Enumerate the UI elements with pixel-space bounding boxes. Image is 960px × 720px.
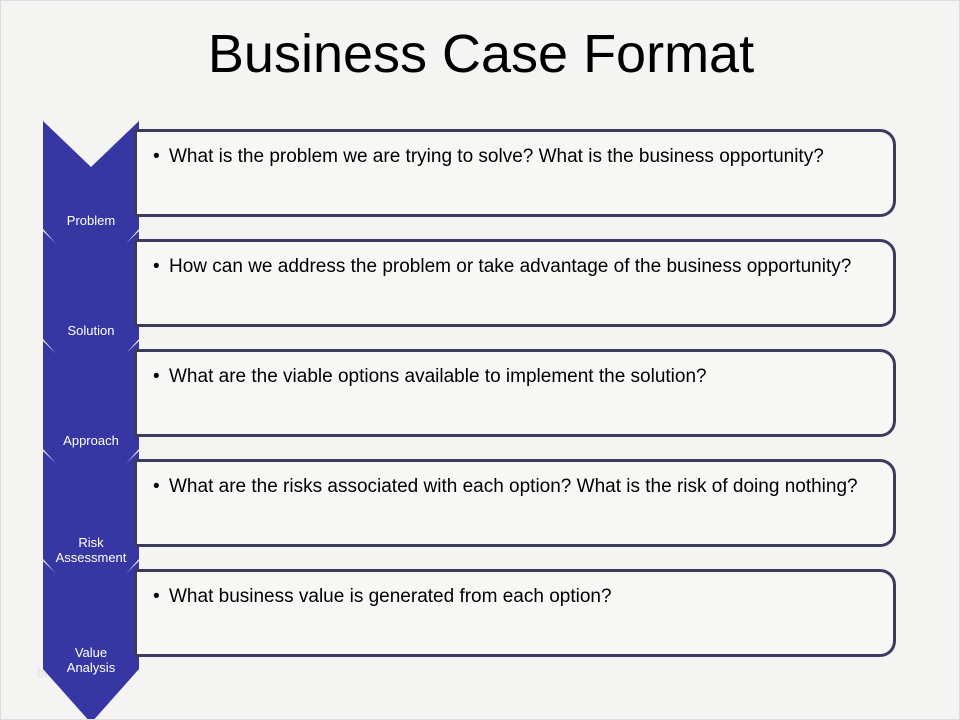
bullet-dot-icon: • (153, 364, 169, 389)
process-step-row[interactable]: ValueAnalysis•What business value is gen… (1, 561, 960, 720)
step-description-box[interactable]: •What are the viable options available t… (134, 349, 896, 437)
bullet-dot-icon: • (153, 144, 169, 169)
bullet-item: •What is the problem we are trying to so… (153, 144, 879, 169)
slide-canvas: Business Case Format Problem•What is the… (0, 0, 960, 720)
bullet-item: •What are the risks associated with each… (153, 474, 879, 499)
bullet-text: What is the problem we are trying to sol… (169, 144, 879, 169)
step-description-box[interactable]: •What business value is generated from e… (134, 569, 896, 657)
bullet-text: What are the risks associated with each … (169, 474, 879, 499)
bullet-list: •What are the risks associated with each… (137, 462, 893, 499)
bullet-text: What are the viable options available to… (169, 364, 879, 389)
chevron-down-icon (43, 561, 139, 720)
bullet-text: How can we address the problem or take a… (169, 254, 879, 279)
bullet-text: What business value is generated from ea… (169, 584, 879, 609)
step-description-box[interactable]: •What is the problem we are trying to so… (134, 129, 896, 217)
bullet-item: •What are the viable options available t… (153, 364, 879, 389)
bullet-list: •How can we address the problem or take … (137, 242, 893, 279)
bullet-dot-icon: • (153, 474, 169, 499)
process-chevron-list: Problem•What is the problem we are tryin… (1, 1, 960, 720)
step-description-box[interactable]: •How can we address the problem or take … (134, 239, 896, 327)
bullet-dot-icon: • (153, 584, 169, 609)
bullet-list: •What business value is generated from e… (137, 572, 893, 609)
bullet-list: •What are the viable options available t… (137, 352, 893, 389)
bullet-list: •What is the problem we are trying to so… (137, 132, 893, 169)
bullet-item: •How can we address the problem or take … (153, 254, 879, 279)
chevron-shape-5[interactable]: ValueAnalysis (43, 561, 139, 720)
step-description-box[interactable]: •What are the risks associated with each… (134, 459, 896, 547)
bullet-item: •What business value is generated from e… (153, 584, 879, 609)
bullet-dot-icon: • (153, 254, 169, 279)
